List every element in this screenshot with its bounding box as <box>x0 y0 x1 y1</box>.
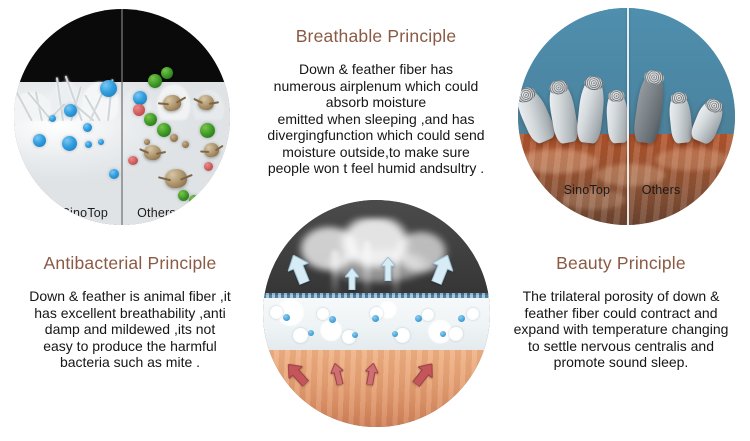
antibacterial-micrograph-image: SinoTop Others <box>14 9 230 225</box>
label-others: Others <box>642 183 681 197</box>
beauty-text-block: Beauty Principle The trilateral porosity… <box>496 253 746 371</box>
moisture-bead <box>440 331 446 337</box>
comparison-divider <box>121 9 123 225</box>
moisture-bead <box>308 330 314 336</box>
antibacterial-text-block: Antibacterial Principle Down & feather i… <box>6 253 254 371</box>
moisture-bead <box>415 315 422 322</box>
bacteria-dot <box>62 136 77 151</box>
label-sinotop: SinoTop <box>62 206 109 220</box>
bacteria-dot <box>109 169 119 179</box>
microbe-dot <box>148 74 162 88</box>
fabric-edge-top <box>263 293 490 298</box>
microbe-dot <box>133 104 145 116</box>
antibacterial-heading: Antibacterial Principle <box>6 253 254 274</box>
label-sinotop: SinoTop <box>564 183 611 197</box>
moisture-bead <box>458 315 465 322</box>
microbe-dot <box>144 139 150 145</box>
antibacterial-body: Down & feather is animal fiber ,it has e… <box>6 288 254 371</box>
microbe-dot <box>157 123 171 137</box>
beauty-fiber-skin-image: SinoTop Others <box>518 8 735 225</box>
breathable-cross-section-image <box>263 200 490 427</box>
moisture-out-arrow-icon <box>345 268 359 290</box>
moisture-bead <box>283 314 290 321</box>
microbe-dot <box>189 195 199 205</box>
label-others: Others <box>137 206 176 220</box>
infographic-canvas: SinoTop Others SinoTop Others <box>0 0 750 441</box>
breathable-heading: Breathable Principle <box>240 26 512 47</box>
moisture-bead <box>329 316 336 323</box>
breathable-text-block: Breathable Principle Down & feather fibe… <box>240 26 512 177</box>
comparison-divider <box>627 8 629 225</box>
moisture-bead <box>352 332 358 338</box>
breathable-body: Down & feather fiber has numerous airple… <box>240 61 512 177</box>
beauty-body: The trilateral porosity of down & feathe… <box>496 288 746 371</box>
bacteria-dot <box>98 139 104 145</box>
bacteria-dot <box>85 141 92 148</box>
bacteria-dot <box>64 104 77 117</box>
bacteria-dot <box>49 115 56 122</box>
moisture-out-arrow-icon <box>381 257 395 281</box>
beauty-heading: Beauty Principle <box>496 253 746 274</box>
bacteria-dot <box>133 91 147 105</box>
down-fabric-layer <box>263 295 490 354</box>
vapor-wisp <box>363 241 371 300</box>
moisture-bead <box>372 315 379 322</box>
microbe-dot <box>170 134 178 142</box>
microbe-dot <box>144 113 157 126</box>
